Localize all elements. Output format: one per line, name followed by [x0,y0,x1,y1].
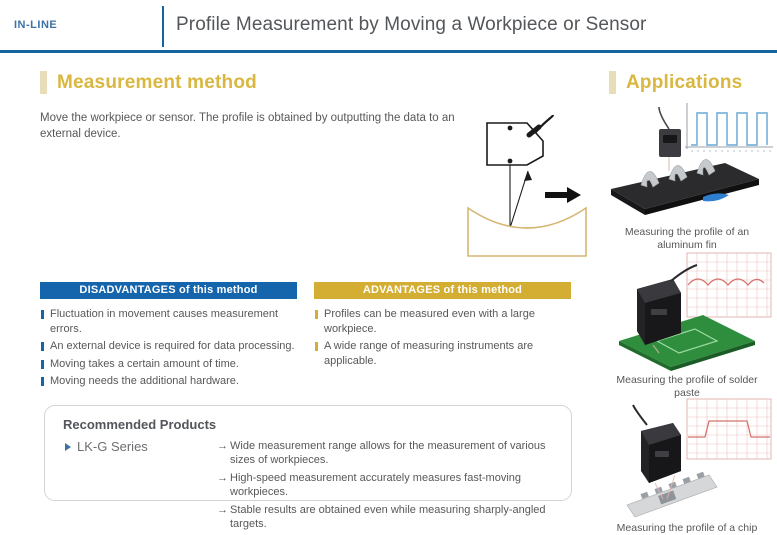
disadvantages-list: Fluctuation in movement causes measureme… [40,299,297,389]
square-waveform-graph [685,103,773,151]
list-item: A wide range of measuring instruments ar… [314,339,571,368]
measurement-diagram [455,113,600,278]
header-category-tag: IN-LINE [14,19,57,31]
header-divider [162,6,164,47]
application-item: Measuring the profile of a chip [597,397,777,535]
measurement-method-heading: Measurement method [40,71,257,94]
application-item: Measuring the profile of solder paste [597,249,777,400]
chip-illustration [597,397,777,522]
heading-tick-icon [40,71,47,94]
list-item: An external device is required for data … [40,339,297,354]
recommended-products-title: Recommended Products [63,417,216,432]
main-content: Measurement method Move the workpiece or… [0,53,597,513]
heading-tick-icon [609,71,616,94]
list-item: High-speed measurement accurately measur… [217,471,562,499]
step-grid-graph [687,399,771,459]
list-item: Wide measurement range allows for the me… [217,439,562,467]
applications-heading: Applications [609,71,742,94]
solder-paste-illustration [597,249,777,374]
recommended-products-box: Recommended Products LK-G Series Wide me… [44,405,572,501]
page-title: Profile Measurement by Moving a Workpiec… [176,14,646,36]
list-item: Stable results are obtained even while m… [217,503,562,531]
page-header: IN-LINE Profile Measurement by Moving a … [0,0,777,53]
disadvantages-panel: DISADVANTAGES of this method Fluctuation… [40,282,297,392]
advantages-panel: ADVANTAGES of this method Profiles can b… [314,282,571,371]
advantages-title: ADVANTAGES of this method [314,282,571,299]
measurement-method-heading-label: Measurement method [57,72,257,94]
recommended-products-points: Wide measurement range allows for the me… [217,439,562,535]
advantages-list: Profiles can be measured even with a lar… [314,299,571,368]
application-caption: Measuring the profile of a chip [597,522,777,535]
list-item: Fluctuation in movement causes measureme… [40,307,297,336]
list-item: Profiles can be measured even with a lar… [314,307,571,336]
applications-heading-label: Applications [626,72,742,94]
triangle-bullet-icon [65,443,71,451]
movement-arrow-icon [545,187,581,203]
recommended-product-link[interactable]: LK-G Series [65,439,148,454]
aluminum-fin-illustration [597,101,777,226]
recommended-product-name: LK-G Series [77,439,148,454]
list-item: Moving takes a certain amount of time. [40,357,297,372]
applications-sidebar: Applications [597,53,777,513]
list-item: Moving needs the additional hardware. [40,374,297,389]
sensor-workpiece-illustration [455,113,600,278]
disadvantages-title: DISADVANTAGES of this method [40,282,297,299]
application-item: Measuring the profile of an aluminum fin [597,101,777,252]
wave-grid-graph [687,253,771,317]
measurement-method-description: Move the workpiece or sensor. The profil… [40,110,465,142]
